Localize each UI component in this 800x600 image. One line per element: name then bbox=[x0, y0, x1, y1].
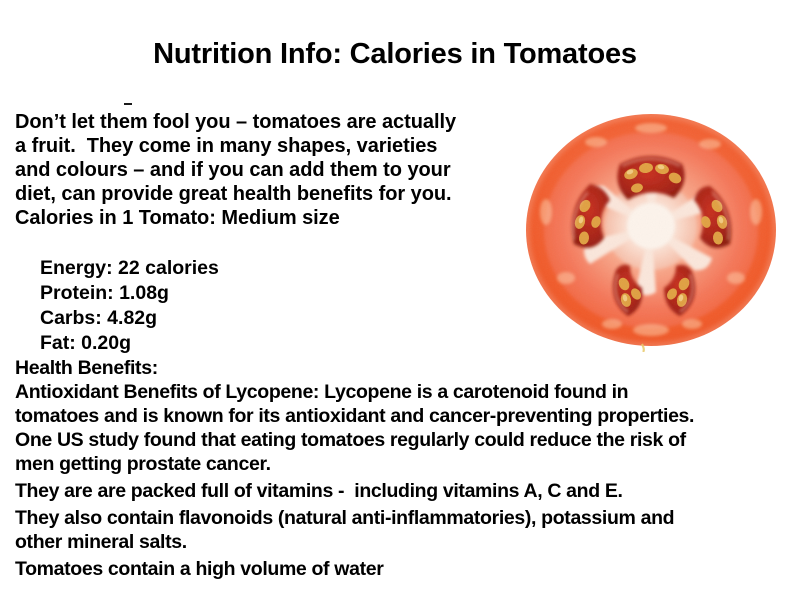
slide-canvas: Nutrition Info: Calories in Tomatoes Don… bbox=[0, 0, 800, 600]
nutrient-row-protein: Protein: 1.08g bbox=[40, 281, 169, 305]
tomato-slice-photo bbox=[524, 112, 780, 352]
stray-dash-artifact bbox=[124, 103, 132, 105]
nutrient-row-energy: Energy: 22 calories bbox=[40, 256, 219, 280]
page-title: Nutrition Info: Calories in Tomatoes bbox=[0, 38, 790, 71]
intro-line-3: and colours – and if you can add them to… bbox=[15, 158, 451, 182]
calories-heading: Calories in 1 Tomato: Medium size bbox=[15, 206, 340, 230]
health-benefits-line-3: One US study found that eating tomatoes … bbox=[15, 428, 686, 452]
nutrient-row-fat: Fat: 0.20g bbox=[40, 331, 131, 355]
intro-line-2: a fruit. They come in many shapes, varie… bbox=[15, 134, 437, 158]
health-benefits-line-6: They also contain flavonoids (natural an… bbox=[15, 506, 674, 530]
health-benefits-line-8: Tomatoes contain a high volume of water bbox=[15, 557, 383, 581]
health-benefits-line-7: other mineral salts. bbox=[15, 530, 187, 554]
health-benefits-line-1: Antioxidant Benefits of Lycopene: Lycope… bbox=[15, 380, 628, 404]
health-benefits-line-4: men getting prostate cancer. bbox=[15, 452, 271, 476]
health-benefits-line-5: They are are packed full of vitamins - i… bbox=[15, 479, 623, 503]
intro-line-4: diet, can provide great health benefits … bbox=[15, 182, 452, 206]
health-benefits-heading: Health Benefits: bbox=[15, 356, 158, 380]
intro-line-1: Don’t let them fool you – tomatoes are a… bbox=[15, 110, 456, 134]
nutrient-row-carbs: Carbs: 4.82g bbox=[40, 306, 157, 330]
health-benefits-line-2: tomatoes and is known for its antioxidan… bbox=[15, 404, 694, 428]
tomato-stem-wisp bbox=[642, 344, 644, 352]
